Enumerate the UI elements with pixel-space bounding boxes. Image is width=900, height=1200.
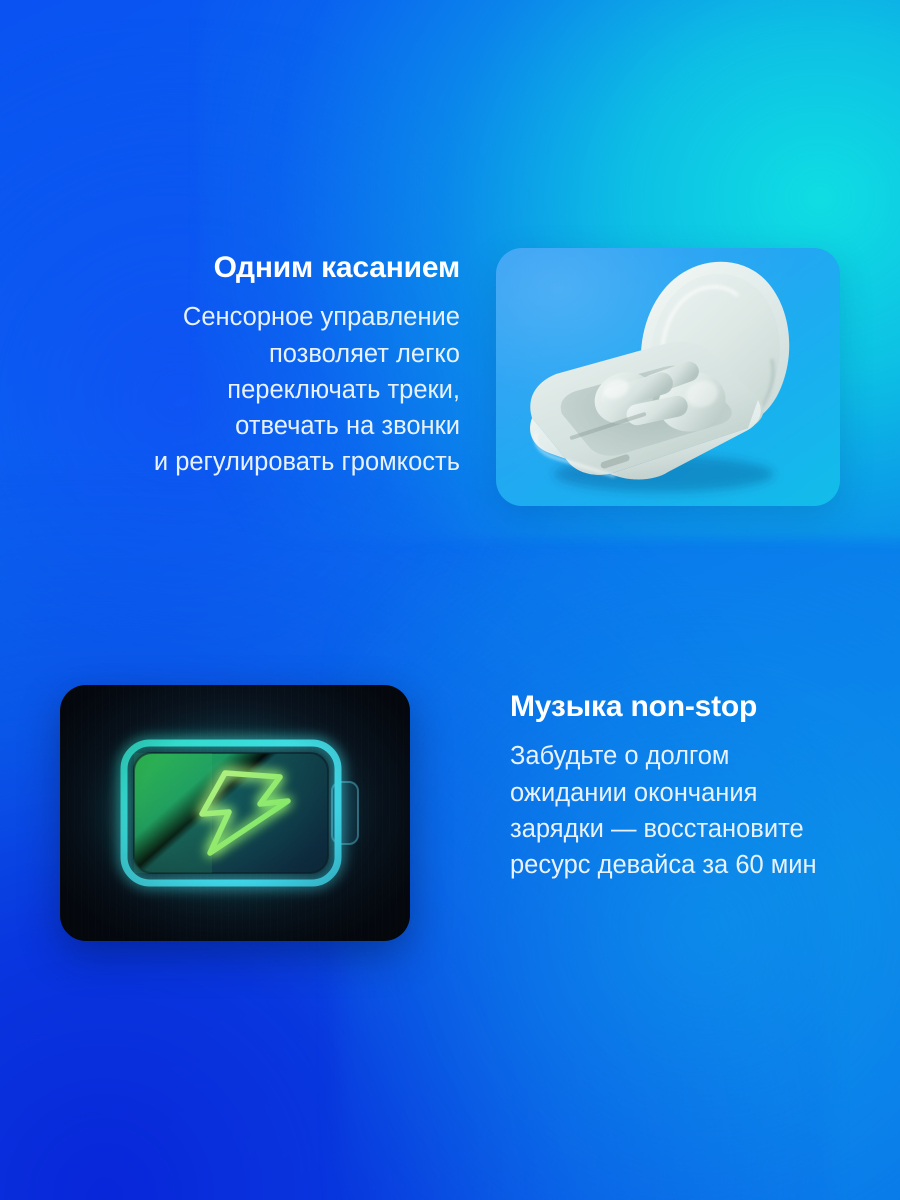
earbuds-case-illustration xyxy=(496,248,840,506)
card-vignette xyxy=(60,685,410,941)
promo-poster: Одним касанием Сенсорное управление позв… xyxy=(0,0,900,1200)
earbuds-case-image xyxy=(496,248,840,506)
feature-block-touch-control: Одним касанием Сенсорное управление позв… xyxy=(100,248,840,506)
feature-headline-battery: Музыка non-stop xyxy=(510,689,757,724)
feature-headline-touch-control: Одним касанием xyxy=(214,250,460,285)
feature-copy-battery: Музыка non-stop Забудьте о долгом ожидан… xyxy=(510,685,840,883)
feature-body-touch-control: Сенсорное управление позволяет легко пер… xyxy=(154,299,460,480)
battery-charging-image xyxy=(60,685,410,941)
feature-block-battery: Музыка non-stop Забудьте о долгом ожидан… xyxy=(60,685,840,941)
feature-body-battery: Забудьте о долгом ожидании окончания зар… xyxy=(510,738,817,883)
feature-copy-touch-control: Одним касанием Сенсорное управление позв… xyxy=(100,248,460,480)
